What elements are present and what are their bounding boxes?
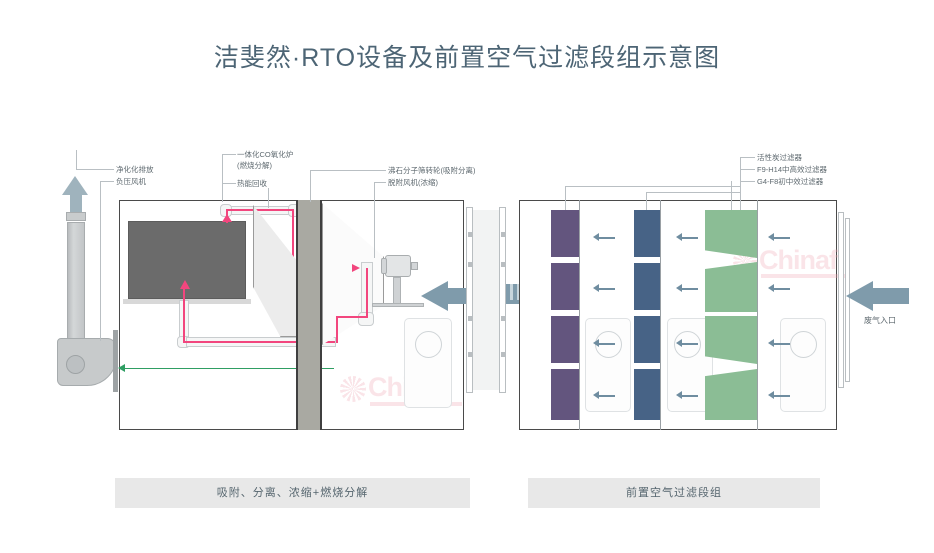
exhaust-arrow-stem [70, 194, 82, 212]
desorption-line-connect [336, 316, 338, 343]
flow-arrow-head-icon [593, 284, 599, 292]
feed-line-vertical [183, 288, 185, 342]
leader-primary-to-bank [731, 181, 732, 210]
inlet-arrow-stem [873, 288, 909, 304]
duct-bolt [501, 316, 505, 321]
label-desorption-fan: 脱附风机(浓缩) [388, 177, 438, 188]
motor-end-cap [381, 258, 387, 274]
leader-negative-fan [100, 181, 114, 182]
desorption-arrow-icon [352, 264, 360, 272]
leader-zeolite-cross [310, 170, 374, 171]
motor-base-plate [372, 303, 424, 307]
leader-midhigh-to-bank [646, 192, 647, 210]
filter-segment [705, 262, 757, 312]
access-door-handle-right-3[interactable] [790, 331, 817, 358]
hot-gas-arrow-up-icon [222, 214, 232, 222]
page-title: 洁斐然·RTO设备及前置空气过滤段组示意图 [0, 38, 934, 74]
filter-segment [705, 369, 757, 420]
filter-bank-midhigh [634, 210, 660, 420]
filter-bank-carbon [551, 210, 579, 420]
duct-bolt [468, 352, 472, 357]
leader-purified-drop [76, 150, 77, 170]
duct-bolt [468, 316, 472, 321]
leader-co-oxidizer [222, 154, 236, 155]
flow-arrow-head-icon [593, 233, 599, 241]
exhaust-up-arrow-icon [62, 176, 88, 195]
flow-arrow-icon [597, 288, 615, 290]
flow-arrow-icon [680, 343, 698, 345]
label-heat-recovery: 热能回收 [237, 178, 267, 189]
label-primary-mid-filter: G4-F8初中效过滤器 [757, 176, 823, 187]
filter-segment [551, 369, 579, 420]
leader-carbon [740, 157, 755, 158]
leader-purified-top [76, 169, 100, 170]
flow-arrow-icon [680, 288, 698, 290]
duct-bolt [501, 232, 505, 237]
clean-air-arrow-icon [118, 364, 125, 372]
flow-arrow-icon [680, 237, 698, 239]
flow-arrow-head-icon [593, 391, 599, 399]
filter-segment [705, 210, 757, 258]
filter-segment [705, 316, 757, 364]
duct-bolt [501, 352, 505, 357]
filter-bank-divider-1 [579, 200, 580, 430]
flow-arrow-head-icon [676, 391, 682, 399]
fan-impeller-hub-icon [66, 355, 85, 374]
leader-primary [740, 181, 755, 182]
flow-arrow-head-icon [768, 391, 774, 399]
flow-arrow-icon [772, 343, 790, 345]
filter-segment [551, 263, 579, 310]
diagram-canvas: 洁斐然·RTO设备及前置空气过滤段组示意图 Chinafl [0, 0, 934, 553]
main-flow-arrow-head-icon [421, 281, 448, 311]
leader-midhigh [740, 169, 755, 170]
label-activated-carbon-filter: 活性炭过滤器 [757, 152, 802, 163]
label-purified-exhaust: 净化化排放 [116, 164, 154, 175]
flow-arrow-head-icon [768, 233, 774, 241]
access-door-handle-right-1[interactable] [595, 331, 622, 358]
stack-cap [66, 212, 86, 221]
leader-carbon-to-bank [565, 186, 566, 210]
filter-segment [634, 316, 660, 363]
leader-heat-recovery-drop [268, 188, 269, 208]
flow-arrow-icon [772, 237, 790, 239]
inlet-flange-outer [838, 212, 844, 388]
flow-arrow-icon [597, 395, 615, 397]
leader-co-oxidizer-drop [222, 154, 223, 202]
fan-mount-plate [113, 330, 118, 392]
label-co-oxidizer: 一体化CO氧化炉 [237, 149, 293, 160]
flow-arrow-head-icon [768, 284, 774, 292]
leader-midhigh-cross [646, 192, 740, 193]
duct-bolt [468, 262, 472, 267]
leader-heat-recovery [222, 183, 236, 184]
desorption-fan-motor [385, 255, 411, 277]
leader-desorption [374, 182, 386, 183]
flow-arrow-icon [772, 395, 790, 397]
label-mid-high-efficiency-filter: F9-H14中高效过滤器 [757, 164, 827, 175]
duct-bolt [501, 262, 505, 267]
feed-arrow-up-icon [180, 280, 190, 289]
flow-arrow-head-icon [676, 339, 682, 347]
filter-bank-primary [705, 210, 757, 420]
desorption-line-to-rto [336, 316, 368, 318]
caption-left-section: 吸附、分离、浓缩+燃烧分解 [115, 478, 470, 508]
label-co-oxidizer-sub: (燃烧分解) [237, 160, 272, 171]
flow-arrow-head-icon [593, 339, 599, 347]
leader-carbon-drop [740, 157, 741, 210]
filter-bank-divider-3 [757, 200, 758, 430]
flow-arrow-icon [772, 288, 790, 290]
motor-support-post [393, 277, 401, 304]
flow-arrow-head-icon [676, 233, 682, 241]
flow-arrow-head-icon [676, 284, 682, 292]
desorption-line-vertical [366, 268, 368, 318]
filter-segment [551, 316, 579, 363]
filter-segment [551, 210, 579, 257]
leader-zeolite [374, 170, 386, 171]
leader-purified-exhaust [100, 169, 114, 170]
caption-right-section: 前置空气过滤段组 [528, 478, 820, 508]
leader-negative-fan-drop [100, 181, 101, 341]
filter-segment [634, 263, 660, 310]
flow-arrow-icon [597, 237, 615, 239]
leader-carbon-cross [565, 186, 740, 187]
waste-gas-inlet-label: 废气入口 [845, 315, 915, 326]
leader-desorption-drop [374, 182, 375, 258]
duct-bolt [468, 232, 472, 237]
flow-arrow-head-icon [768, 339, 774, 347]
flow-arrow-icon [680, 395, 698, 397]
exhaust-stack [67, 222, 85, 340]
filter-segment [634, 369, 660, 420]
inlet-arrow-head-icon [846, 281, 873, 311]
motor-shaft [411, 262, 418, 270]
flow-arrow-icon [597, 343, 615, 345]
label-zeolite-rotor: 沸石分子筛转轮(吸附分离) [388, 165, 476, 176]
filter-segment [634, 210, 660, 257]
leader-zeolite-drop [310, 170, 311, 202]
access-door-handle-left[interactable] [415, 331, 442, 358]
hot-gas-line-top [226, 209, 294, 211]
duct-connector [470, 210, 502, 390]
zeolite-rotor-column [296, 200, 322, 430]
label-negative-pressure-fan: 负压风机 [116, 176, 146, 187]
filter-bank-divider-2 [660, 200, 661, 430]
